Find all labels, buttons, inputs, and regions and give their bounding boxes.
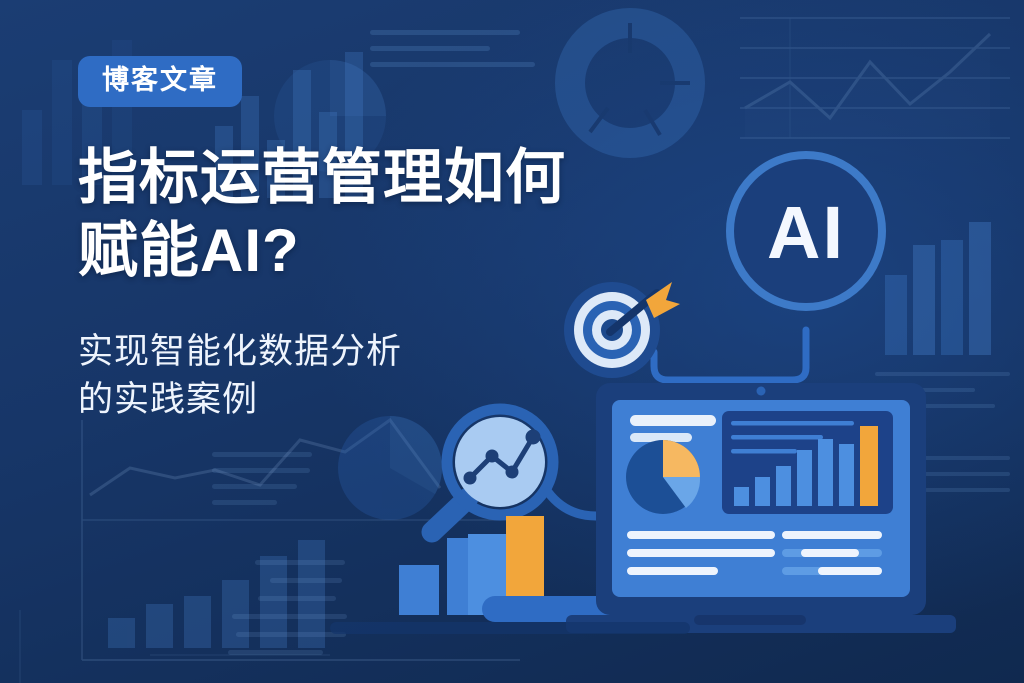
- title-line-1: 指标运营管理如何: [78, 141, 698, 214]
- subtitle-line-1: 实现智能化数据分析: [78, 328, 698, 376]
- panel-bar-4: [797, 450, 812, 506]
- laptop-panel-bar-chart: [722, 411, 893, 514]
- panel-bar-1: [734, 487, 749, 506]
- panel-bar-2: [755, 477, 770, 506]
- subtitle-line-2: 的实践案例: [78, 376, 698, 424]
- screen-text-lines-right: [782, 531, 882, 575]
- panel-bar-3: [776, 466, 791, 506]
- blog-article-banner: AI 博客文章 指标运营管理如何 赋能AI? 实现智能化数据分析 的实践案例: [0, 0, 1024, 683]
- panel-bar-6: [839, 444, 854, 506]
- panel-bar-5: [818, 439, 833, 506]
- text-content: 博客文章 指标运营管理如何 赋能AI? 实现智能化数据分析 的实践案例: [78, 56, 698, 459]
- panel-bar-7: [860, 426, 878, 506]
- bar-1: [399, 565, 439, 615]
- webcam-dot-icon: [757, 387, 766, 396]
- title-line-2: 赋能AI?: [78, 214, 698, 287]
- category-badge[interactable]: 博客文章: [78, 56, 242, 107]
- page-title: 指标运营管理如何 赋能AI?: [78, 141, 698, 287]
- page-subtitle: 实现智能化数据分析 的实践案例: [78, 328, 698, 425]
- ground-shadow: [330, 622, 690, 634]
- ai-label: AI: [767, 191, 845, 274]
